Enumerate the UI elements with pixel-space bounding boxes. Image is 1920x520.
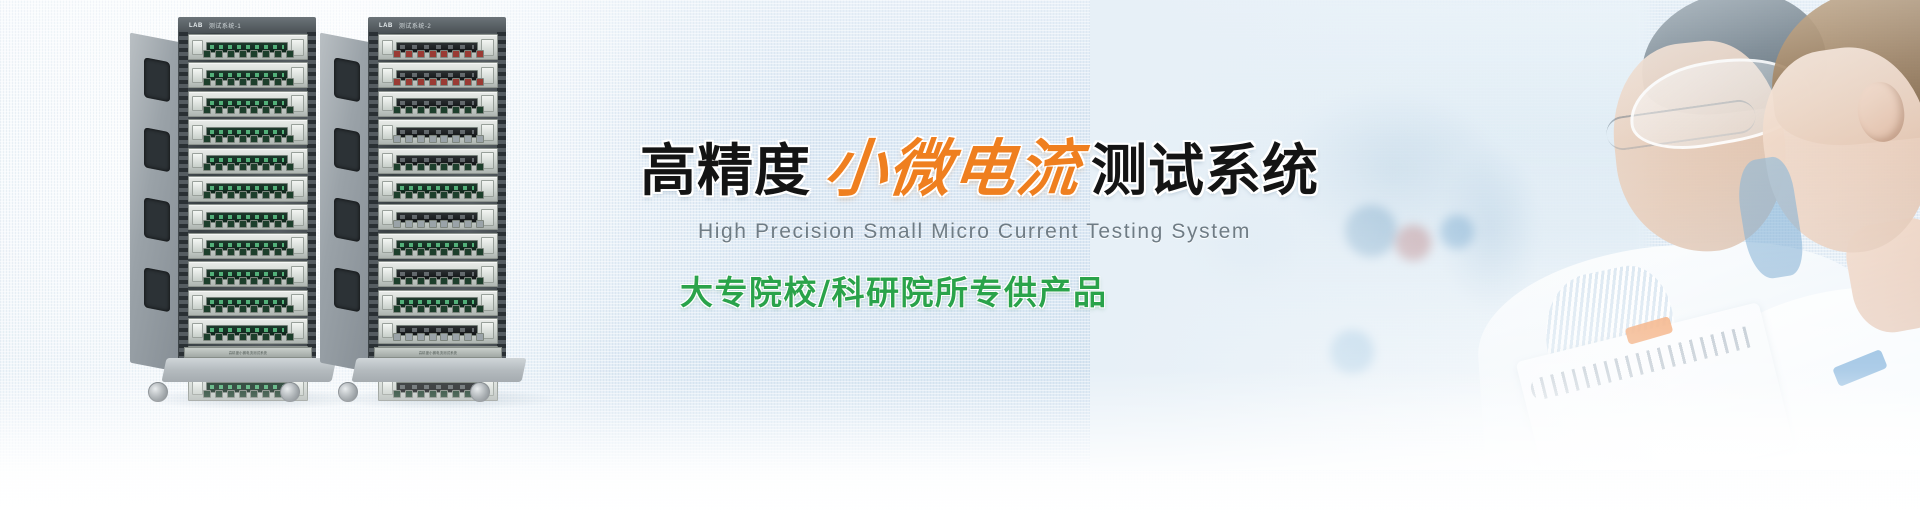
instrument-module [188,148,308,174]
module-port-row [393,78,484,85]
module-knob [192,210,203,225]
module-knob [382,210,393,225]
module-port-row [393,164,484,171]
module-knob [382,96,393,111]
module-port-row [203,192,294,199]
instrument-module [378,62,498,88]
subtitle-english: High Precision Small Micro Current Testi… [640,220,1160,244]
module-port-row [203,135,294,142]
rack-brand-text: LAB [189,23,203,29]
module-port-row [393,334,484,341]
instrument-module [378,148,498,174]
rack-module-stack-right [378,34,496,374]
headline: 高精度 小微电流 测试系统 [640,138,1160,200]
instrument-module [188,119,308,145]
module-knob [382,153,393,168]
instrument-module [378,34,498,60]
instrument-module [188,233,308,259]
module-port-row [203,50,294,57]
rack-label-strip: 高精度小微电流测试系统 [374,347,502,358]
module-port-row [203,334,294,341]
module-knob [192,125,203,140]
instrument-module [188,176,308,202]
module-knob [192,323,203,338]
instrument-module [378,91,498,117]
instrument-module [378,261,498,287]
equipment-rack-right: LAB 测试系统-2 高精度小微电流测试系统 [320,28,550,380]
module-port-row [203,220,294,227]
module-port-row [393,107,484,114]
instrument-module [188,318,308,344]
module-port-row [393,277,484,284]
module-port-row [203,277,294,284]
headline-highlight: 小微电流 [822,138,1085,200]
instrument-module [378,176,498,202]
instrument-module [188,290,308,316]
rack-vent [334,267,360,312]
rack-brand-label: LAB 测试系统-2 [376,20,499,31]
rack-vent [144,57,170,102]
module-knob [382,295,393,310]
headline-prefix: 高精度 [640,144,811,200]
instrument-module [378,204,498,230]
bottom-fade [0,370,1920,520]
instrument-module [188,34,308,60]
instrument-module [378,233,498,259]
rack-rail [369,32,378,376]
rack-module-stack-left [188,34,306,374]
module-knob [382,181,393,196]
rack-brand-text: LAB [379,23,393,29]
module-knob [192,238,203,253]
module-knob [192,40,203,55]
rack-rail [179,32,188,376]
module-port-row [393,135,484,142]
tagline-chinese: 大专院校/科研院所专供产品 [640,266,1160,314]
module-knob [382,125,393,140]
instrument-module [188,91,308,117]
instrument-module [188,261,308,287]
module-port-row [203,249,294,256]
module-port-row [203,107,294,114]
instrument-module [378,318,498,344]
module-knob [382,267,393,282]
module-port-row [203,78,294,85]
module-knob [382,238,393,253]
rack-vent [334,127,360,172]
module-port-row [393,306,484,313]
rack-model-text: 测试系统-2 [399,21,431,30]
rack-vent [144,267,170,312]
module-port-row [203,164,294,171]
rack-rail [497,32,506,376]
instrument-module [188,62,308,88]
rack-vent [144,197,170,242]
module-knob [192,153,203,168]
instrument-module [378,290,498,316]
instrument-module [378,119,498,145]
module-knob [382,323,393,338]
module-port-row [393,192,484,199]
module-knob [382,40,393,55]
module-port-row [393,220,484,227]
rack-model-text: 测试系统-1 [209,21,241,30]
module-knob [192,68,203,83]
module-knob [382,68,393,83]
module-port-row [203,306,294,313]
banner-copy: 高精度 小微电流 测试系统 High Precision Small Micro… [640,138,1160,314]
headline-suffix: 测试系统 [1091,144,1319,200]
rack-vent [334,57,360,102]
rack-vent [334,197,360,242]
module-knob [192,96,203,111]
module-knob [192,295,203,310]
rack-rail [307,32,316,376]
product-banner: LAB 测试系统-1 高精度小微电流测试系统 [0,0,1920,520]
rack-label-strip: 高精度小微电流测试系统 [184,347,312,358]
instrument-module [188,204,308,230]
module-knob [192,267,203,282]
rack-brand-label: LAB 测试系统-1 [186,20,309,31]
module-port-row [393,50,484,57]
module-port-row [393,249,484,256]
module-knob [192,181,203,196]
rack-vent [144,127,170,172]
